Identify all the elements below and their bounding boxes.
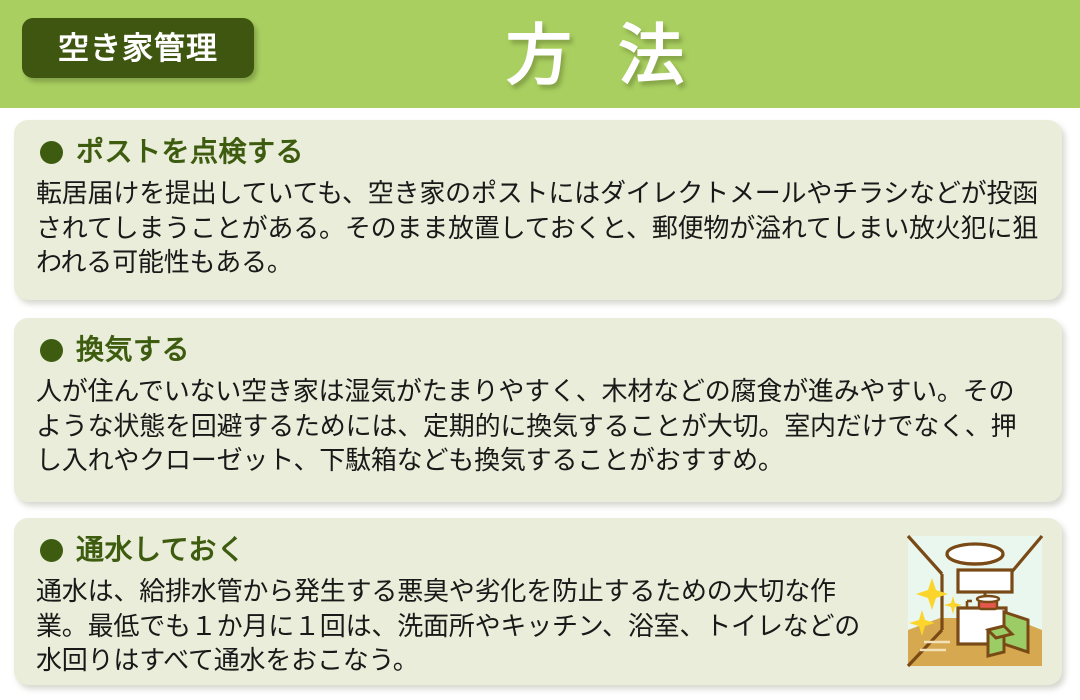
- card-body-text: 転居届けを提出していても、空き家のポストにはダイレクトメールやチラシなどが投函さ…: [36, 176, 1040, 280]
- bullet-dot-icon: [40, 539, 63, 562]
- tip-card-ventilation: 換気する 人が住んでいない空き家は湿気がたまりやすく、木材などの腐食が進みやすい…: [14, 318, 1062, 502]
- card-heading-label: 換気する: [76, 336, 190, 364]
- bullet-dot-icon: [40, 339, 63, 362]
- card-heading: 通水しておく: [40, 532, 1040, 568]
- card-body-text: 通水は、給排水管から発生する悪臭や劣化を防止するための大切な作業。最低でも１か月…: [36, 574, 881, 678]
- card-heading-label: 通水しておく: [76, 536, 245, 564]
- card-heading-label: ポストを点検する: [76, 138, 304, 166]
- tip-card-water-flushing: 通水しておく 通水は、給排水管から発生する悪臭や劣化を防止するための大切な作業。…: [14, 518, 1062, 685]
- header-band: 空き家管理 方 法: [0, 0, 1080, 108]
- clean-room-illustration: [906, 534, 1044, 668]
- page-title: 方 法: [430, 6, 760, 104]
- category-tag: 空き家管理: [22, 18, 254, 78]
- card-body-text: 人が住んでいない空き家は湿気がたまりやすく、木材などの腐食が進みやすい。そのよう…: [36, 374, 1040, 478]
- tip-card-post-inspection: ポストを点検する 転居届けを提出していても、空き家のポストにはダイレクトメールや…: [14, 120, 1062, 300]
- card-heading: 換気する: [40, 332, 1040, 368]
- card-heading: ポストを点検する: [40, 134, 1040, 170]
- category-tag-label: 空き家管理: [58, 33, 218, 64]
- bullet-dot-icon: [40, 141, 63, 164]
